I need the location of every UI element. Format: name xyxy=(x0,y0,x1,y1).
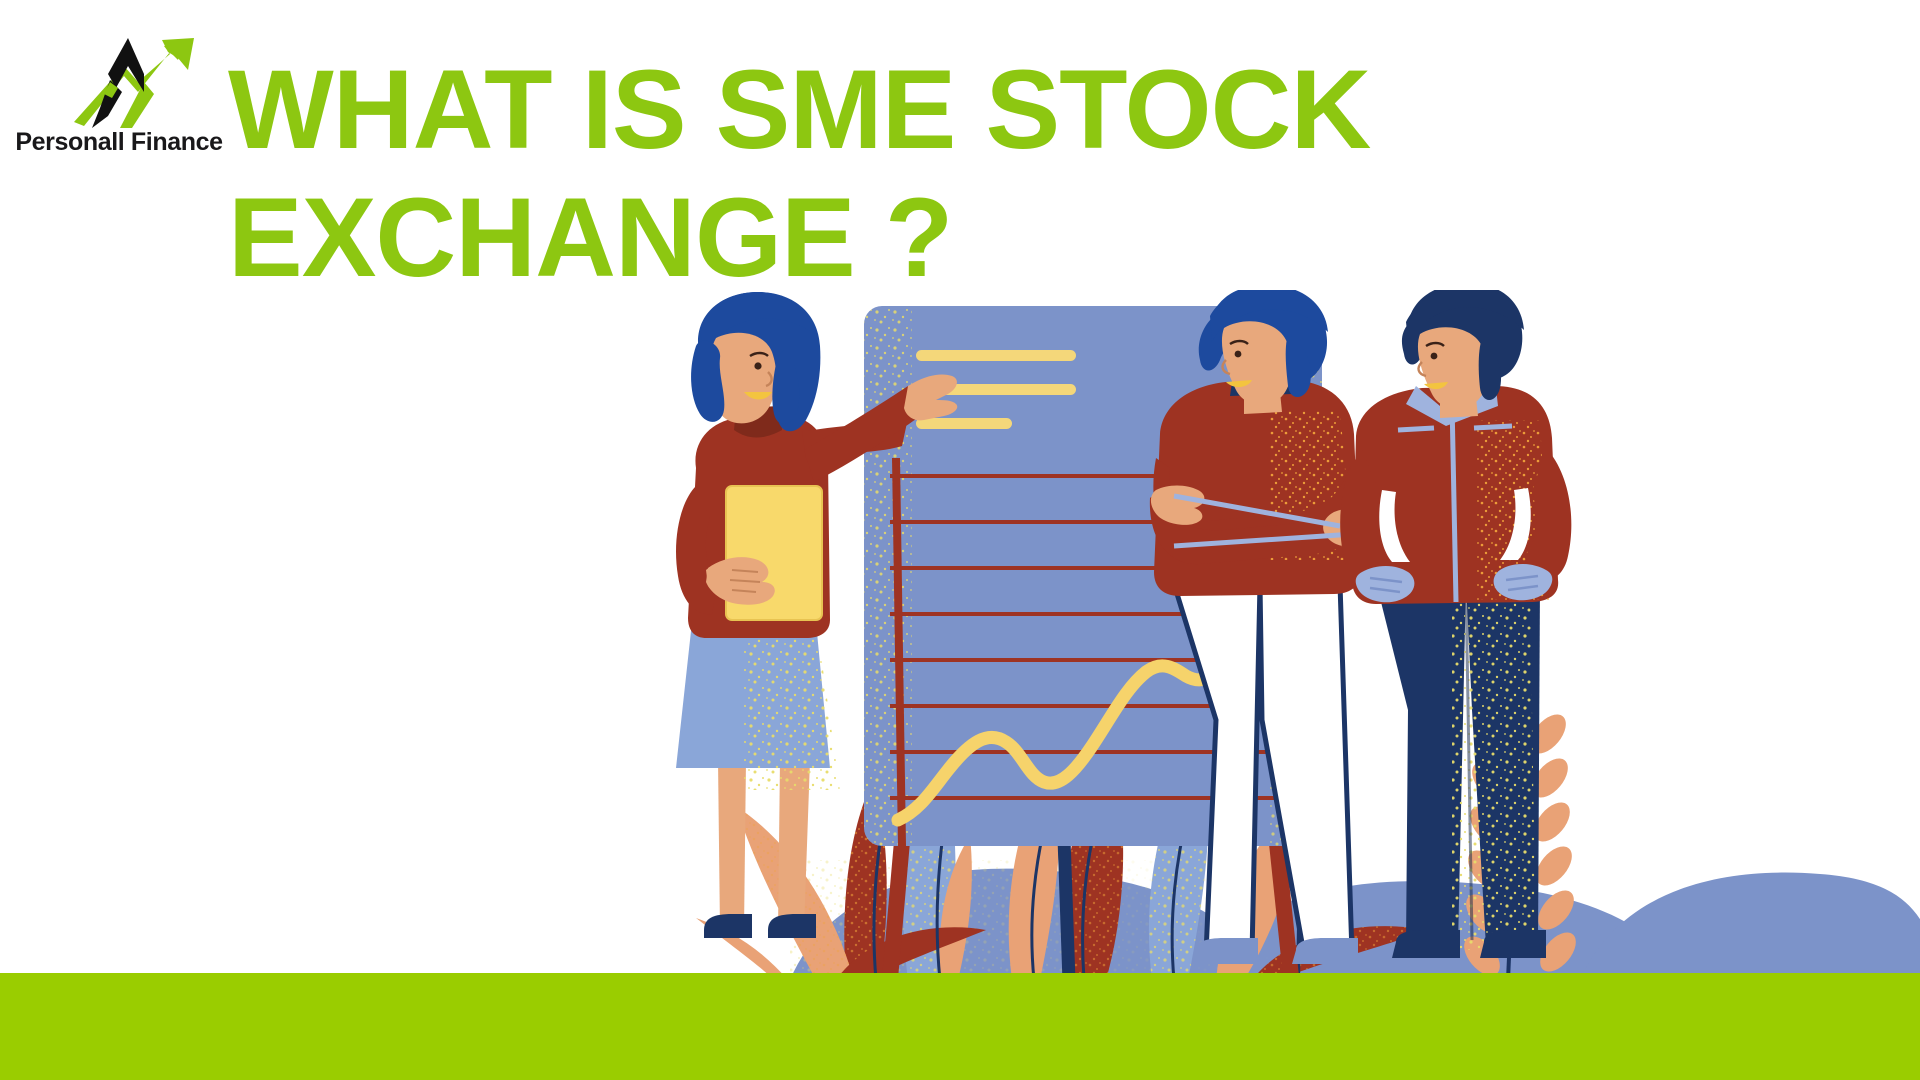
woman-head xyxy=(691,292,820,431)
page-title-line-2: EXCHANGE ? xyxy=(228,174,1528,302)
brand-logo: Personall Finance xyxy=(14,36,224,166)
man-hands-on-hips xyxy=(1340,290,1571,958)
poster-canvas: Personall Finance WHAT IS SME STOCK EXCH… xyxy=(0,0,1920,1080)
man2-jacket xyxy=(1340,386,1571,604)
brand-name: Personall Finance xyxy=(14,128,224,157)
woman-shoes xyxy=(704,914,816,938)
business-presentation-illustration xyxy=(640,290,1920,980)
page-title-line-1: WHAT IS SME STOCK xyxy=(228,46,1528,174)
page-title: WHAT IS SME STOCK EXCHANGE ? xyxy=(228,46,1528,302)
footer-bar xyxy=(0,973,1920,1080)
arrow-up-growth-icon xyxy=(66,36,196,128)
